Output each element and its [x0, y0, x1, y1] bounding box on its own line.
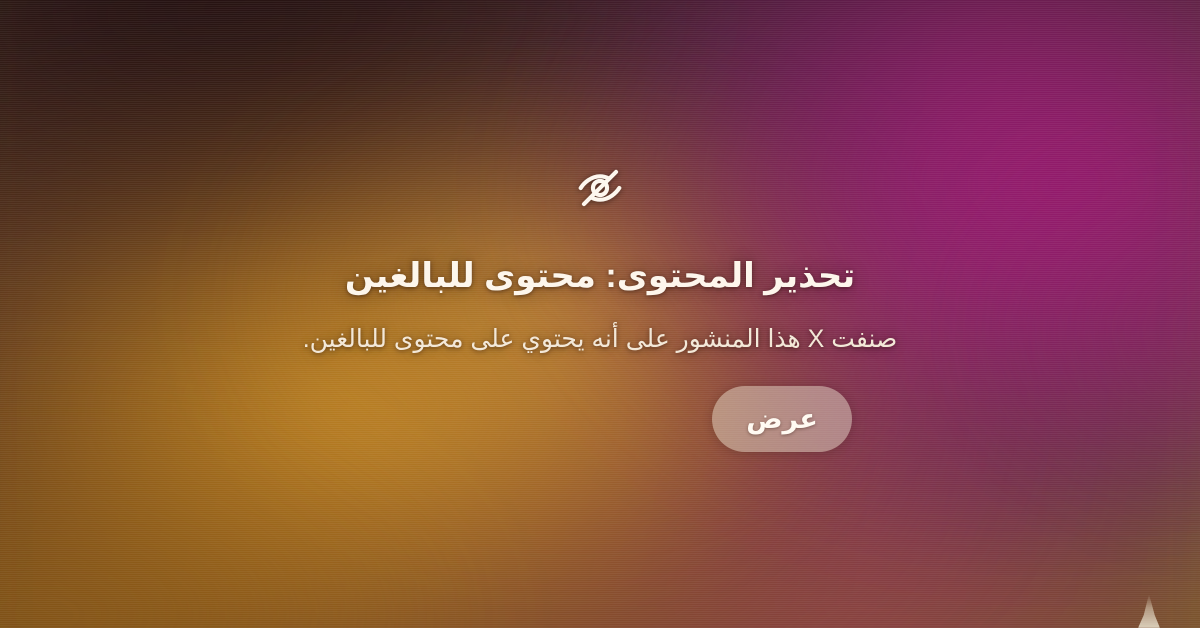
content-warning-overlay: تحذير المحتوى: محتوى للبالغين صنفت X هذا… — [0, 0, 1200, 628]
warning-content-block: تحذير المحتوى: محتوى للبالغين صنفت X هذا… — [220, 162, 980, 452]
warning-description: صنفت X هذا المنشور على أنه يحتوي على محت… — [220, 323, 980, 356]
action-row: عرض — [220, 386, 980, 452]
eye-off-icon — [574, 162, 626, 214]
view-button[interactable]: عرض — [712, 386, 852, 452]
content-warning-screen: تحذير المحتوى: محتوى للبالغين صنفت X هذا… — [0, 0, 1200, 628]
page-title: تحذير المحتوى: محتوى للبالغين — [220, 256, 980, 297]
